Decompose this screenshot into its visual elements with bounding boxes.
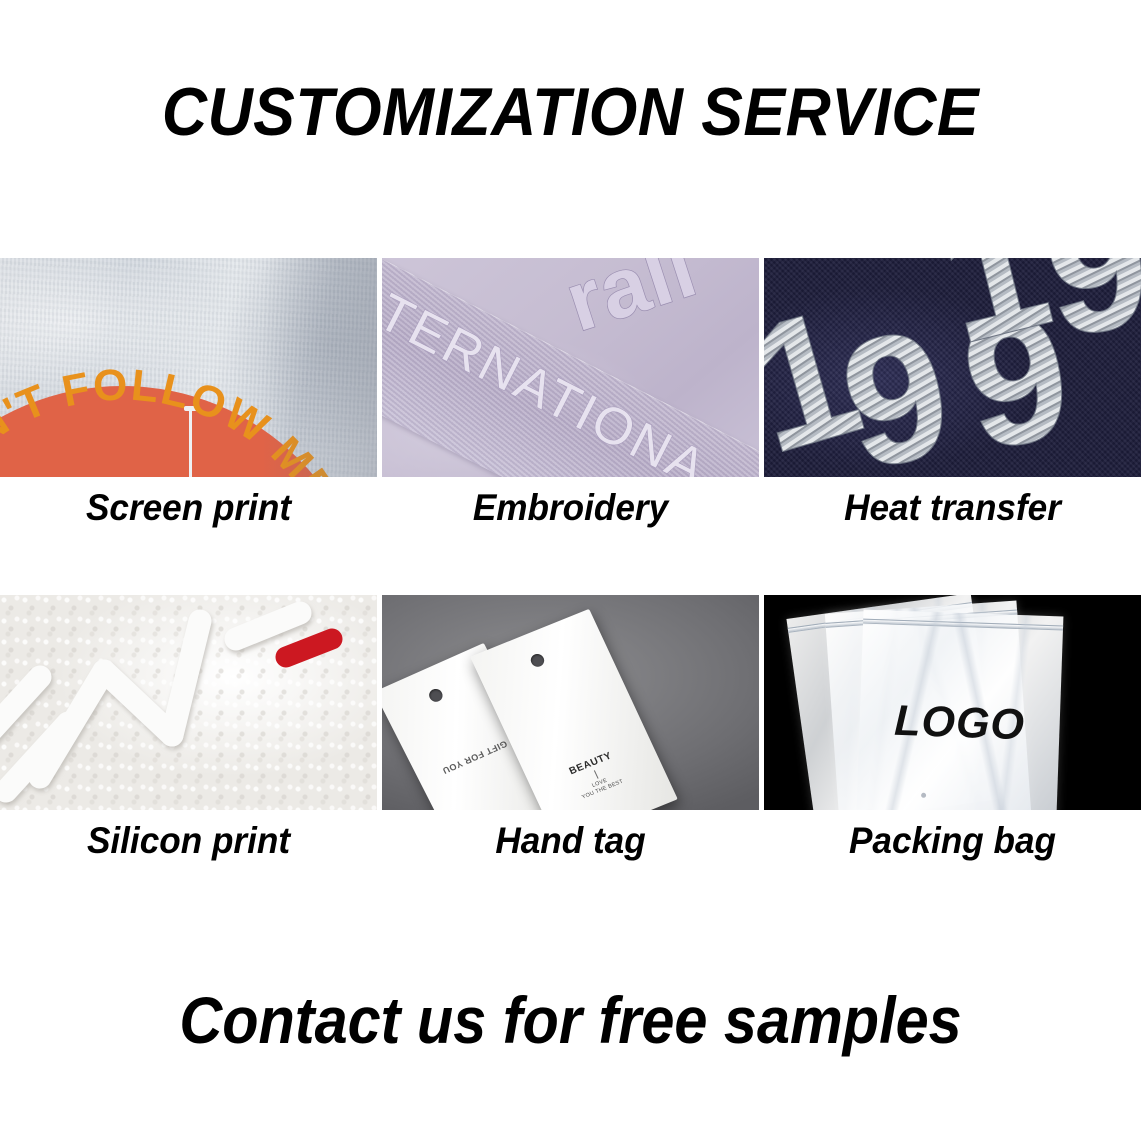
tag-divider bbox=[593, 770, 598, 779]
tag-right-text-block: BEAUTY LOVE YOU THE BEST bbox=[542, 740, 651, 810]
embroidery-photo: rall TERNATIONA bbox=[382, 258, 759, 477]
tag-hole-icon bbox=[529, 652, 547, 669]
gallery-item-embroidery[interactable]: rall TERNATIONA Embroidery bbox=[382, 258, 759, 539]
tag-left-text: GIFT FOR YOU bbox=[429, 733, 521, 781]
gallery-item-silicon-print[interactable]: Silicon print bbox=[0, 595, 377, 872]
gallery-item-screen-print[interactable]: N'T FOLLOW ME Screen print bbox=[0, 258, 377, 539]
row-spacer bbox=[382, 539, 759, 595]
embroidery-lettering: rall TERNATIONA bbox=[382, 258, 759, 477]
heat-transfer-photo: 1 9 9 1 9 bbox=[764, 258, 1141, 477]
tag-hole-icon bbox=[427, 687, 445, 704]
gallery-caption-hand-tag: Hand tag bbox=[391, 810, 749, 872]
service-gallery-grid: N'T FOLLOW ME Screen print rall TERNATIO… bbox=[0, 258, 1141, 872]
packing-bag-front: LOGO bbox=[857, 610, 1064, 810]
row-spacer bbox=[0, 539, 377, 595]
gallery-caption-heat-transfer: Heat transfer bbox=[773, 477, 1131, 539]
contact-cta-text: Contact us for free samples bbox=[57, 980, 1084, 1060]
row-spacer bbox=[764, 539, 1141, 595]
gallery-caption-embroidery: Embroidery bbox=[391, 477, 749, 539]
screen-print-photo: N'T FOLLOW ME bbox=[0, 258, 377, 477]
hand-tag-photo: GIFT FOR YOU BEAUTY LOVE YOU THE BEST bbox=[382, 595, 759, 810]
gallery-item-heat-transfer[interactable]: 1 9 9 1 9 Heat transfer bbox=[764, 258, 1141, 539]
customization-service-banner: CUSTOMIZATION SERVICE N'T FOLLOW ME Scr bbox=[0, 0, 1141, 1142]
fold-shadow bbox=[262, 258, 377, 477]
svg-text:rall: rall bbox=[555, 258, 708, 349]
page-title: CUSTOMIZATION SERVICE bbox=[46, 72, 1096, 152]
heat-transfer-numbers: 1 9 9 1 9 bbox=[764, 258, 1141, 477]
gallery-caption-screen-print: Screen print bbox=[9, 477, 367, 539]
packing-bag-photo: LOGO bbox=[764, 595, 1141, 810]
gallery-caption-silicon-print: Silicon print bbox=[9, 810, 367, 872]
gallery-item-packing-bag[interactable]: LOGO Packing bag bbox=[764, 595, 1141, 872]
silicone-lettering bbox=[0, 595, 377, 810]
gallery-caption-packing-bag: Packing bag bbox=[773, 810, 1131, 872]
bag-logo-print: LOGO bbox=[859, 696, 1061, 752]
silicon-print-photo bbox=[0, 595, 377, 810]
gallery-item-hand-tag[interactable]: GIFT FOR YOU BEAUTY LOVE YOU THE BEST Ha… bbox=[382, 595, 759, 872]
